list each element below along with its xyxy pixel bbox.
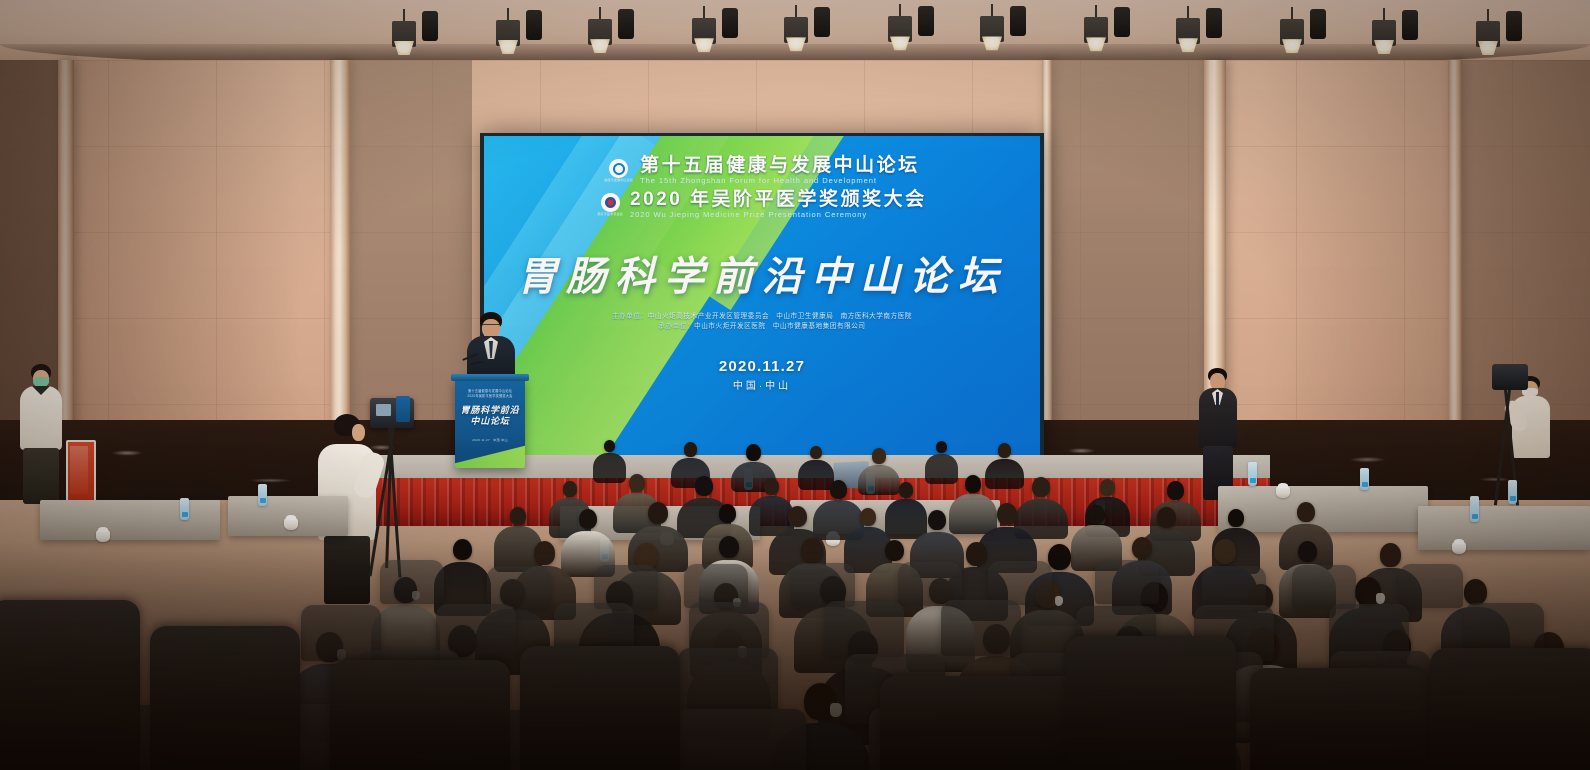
chair <box>674 709 806 770</box>
audience-head <box>788 506 807 527</box>
co-organizers-value: 中山市火炬开发区医院 中山市健康基地集团有限公司 <box>694 323 865 330</box>
chair <box>941 600 1021 656</box>
foreground-chair <box>520 646 680 770</box>
audience-head <box>1032 477 1050 497</box>
audience-head <box>936 441 947 453</box>
staff-left <box>18 364 64 504</box>
audience-member <box>593 453 626 483</box>
video-camera-left-screen <box>376 404 391 416</box>
audience-head <box>860 508 876 526</box>
teacup <box>284 518 298 530</box>
foreground-chair <box>1430 648 1590 770</box>
audience-head <box>648 502 668 524</box>
audience-head <box>510 507 526 525</box>
screen-header-cn-1: 第十五届健康与发展中山论坛 <box>640 156 920 176</box>
audience-head <box>579 509 597 529</box>
audience-head <box>604 440 615 452</box>
audience-head <box>746 444 761 461</box>
chair <box>1202 566 1266 610</box>
foreground-chair <box>880 676 1070 770</box>
screen-organizers: 主办单位：中山火炬高技术产业开发区管理委员会 中山市卫生健康局 南方医科大学南方… <box>484 312 1040 332</box>
staff-right <box>1196 368 1240 500</box>
audience-head <box>534 541 555 565</box>
video-camera-left-lens <box>362 404 374 416</box>
audience-head <box>966 542 987 566</box>
forum-logo-icon <box>609 159 628 178</box>
stage-light-housing <box>1310 9 1326 39</box>
audience-head <box>801 538 823 563</box>
audience-head <box>563 481 577 497</box>
fire-extinguisher-glass <box>70 446 88 494</box>
audience-head <box>1100 479 1115 496</box>
audience-head <box>684 442 697 457</box>
speaker-glasses <box>482 324 500 328</box>
audience-member <box>858 465 900 495</box>
audience-head <box>1167 481 1184 500</box>
organizers-label: 主办单位： <box>612 313 648 320</box>
screen-header: 健康与发展中山论坛 第十五届健康与发展中山论坛 The 15th Zhongsh… <box>484 156 1040 220</box>
audience-member <box>798 460 834 490</box>
foreground-chair <box>330 660 510 770</box>
staff-left-blouse <box>20 386 62 450</box>
audience-head <box>997 503 1017 525</box>
foundation-logo-caption: 吴阶平医学基金会 <box>597 213 623 216</box>
podium-green-swoosh <box>455 440 525 468</box>
audience-head <box>764 478 779 495</box>
foreground-chair <box>1250 668 1430 770</box>
audience-member <box>985 459 1024 489</box>
video-camera-left-accent <box>396 396 410 422</box>
podium-top-edge <box>451 374 529 381</box>
audience-head <box>1228 509 1244 527</box>
stage-light-housing <box>618 9 634 39</box>
foundation-logo: 吴阶平医学基金会 <box>597 193 623 216</box>
podium: 第十五届健康与发展中山论坛 2020年吴阶平医学奖颁奖大会 胃肠科学前沿 中山论… <box>455 378 525 468</box>
audience-head <box>1157 507 1176 528</box>
chair <box>988 561 1052 605</box>
foreground-chair <box>1066 636 1236 770</box>
foreground-chair <box>150 626 300 770</box>
conference-hall-scene: 健康与发展中山论坛 第十五届健康与发展中山论坛 The 15th Zhongsh… <box>0 0 1590 770</box>
audience-head <box>1088 505 1105 524</box>
podium-title-line-1: 胃肠科学前沿 <box>455 405 525 416</box>
audience-member <box>885 499 927 539</box>
audience-head <box>1048 544 1071 570</box>
stage-light-housing <box>1114 7 1130 37</box>
audience-head <box>1380 543 1401 567</box>
foreground-chair <box>0 600 140 770</box>
screen-date-block: 2020.11.27 中国·中山 <box>484 358 1040 392</box>
screen-header-cn-2: 2020 年吴阶平医学奖颁奖大会 <box>630 190 927 210</box>
chair <box>1292 565 1356 609</box>
audience-head <box>928 510 946 530</box>
audience-head <box>810 446 822 459</box>
cam-op-left-trousers <box>324 536 370 604</box>
water-bottle <box>1360 468 1369 490</box>
front-table-5 <box>40 500 220 540</box>
forum-logo-caption: 健康与发展中山论坛 <box>604 179 633 182</box>
podium-header-line-2: 2020年吴阶平医学奖颁奖大会 <box>461 394 519 399</box>
water-bottle <box>1470 496 1479 522</box>
water-bottle <box>1248 462 1257 486</box>
chair <box>824 601 904 657</box>
stage-light-housing <box>1206 8 1222 38</box>
audience-head <box>719 504 736 523</box>
stage-light-housing <box>1010 6 1026 36</box>
stage-light-housing <box>918 6 934 36</box>
audience-head <box>899 482 913 498</box>
teacup <box>1276 486 1290 498</box>
foundation-logo-icon <box>601 193 620 212</box>
podium-title: 胃肠科学前沿 中山论坛 <box>455 405 525 428</box>
podium-title-line-2: 中山论坛 <box>455 416 525 427</box>
chair <box>1095 560 1159 604</box>
water-bottle <box>180 498 189 520</box>
teacup <box>96 530 110 542</box>
audience-member <box>949 494 997 534</box>
audience-head <box>998 443 1011 458</box>
audience-head <box>885 540 904 561</box>
chair <box>1399 564 1463 608</box>
audience-head <box>965 475 981 493</box>
video-camera-right <box>1492 364 1528 390</box>
audience-head <box>1297 502 1315 522</box>
staff-right-tie <box>1216 392 1219 405</box>
screen-main-title: 胃肠科学前沿中山论坛 <box>484 244 1040 302</box>
audience-head <box>1464 579 1487 605</box>
audience-head <box>695 476 713 496</box>
camera-operator-right <box>1512 376 1552 496</box>
audience-head <box>1132 537 1152 559</box>
audience-head <box>872 448 886 464</box>
screen-header-row-2: 吴阶平医学基金会 2020 年吴阶平医学奖颁奖大会 2020 Wu Jiepin… <box>484 190 1040 219</box>
audience-face-mask <box>830 703 841 716</box>
podium-subtitle: 2020.11.27 中国·中山 <box>455 438 525 442</box>
co-organizers-label: 承办单位： <box>658 323 694 330</box>
chair <box>678 648 778 718</box>
audience-head <box>830 480 847 499</box>
stage-light-housing <box>814 7 830 37</box>
audience-member <box>925 454 958 484</box>
screen-header-row-1: 健康与发展中山论坛 第十五届健康与发展中山论坛 The 15th Zhongsh… <box>484 156 1040 185</box>
stage-light-housing <box>722 8 738 38</box>
forum-logo: 健康与发展中山论坛 <box>604 159 633 182</box>
led-screen: 健康与发展中山论坛 第十五届健康与发展中山论坛 The 15th Zhongsh… <box>484 136 1040 458</box>
audience-head <box>629 474 645 492</box>
screen-location: 中国·中山 <box>484 377 1040 392</box>
audience-head <box>1214 539 1236 564</box>
audience-head <box>1298 541 1317 562</box>
podium-header: 第十五届健康与发展中山论坛 2020年吴阶平医学奖颁奖大会 <box>461 389 519 400</box>
co-organizers-line: 承办单位：中山市火炬开发区医院 中山市健康基地集团有限公司 <box>484 322 1040 332</box>
screen-header-en-1: The 15th Zhongshan Forum for Health and … <box>640 177 920 185</box>
front-table-4 <box>1418 506 1590 550</box>
cam-op-left-face <box>352 424 365 441</box>
audience-face-mask <box>1376 593 1385 603</box>
audience-head <box>453 539 472 560</box>
organizers-line: 主办单位：中山火炬高技术产业开发区管理委员会 中山市卫生健康局 南方医科大学南方… <box>484 312 1040 322</box>
audience-face-mask <box>1055 596 1064 606</box>
water-bottle <box>258 484 267 506</box>
audience-head <box>719 536 739 558</box>
teacup <box>1452 542 1466 554</box>
organizers-value: 中山火炬高技术产业开发区管理委员会 中山市卫生健康局 南方医科大学南方医院 <box>648 313 912 320</box>
screen-header-en-2: 2020 Wu Jieping Medicine Prize Presentat… <box>630 211 927 219</box>
water-bottle <box>1508 480 1517 504</box>
chair <box>380 560 444 604</box>
front-table-3 <box>1218 486 1428 532</box>
staff-left-skirt <box>23 448 59 504</box>
screen-date: 2020.11.27 <box>484 358 1040 375</box>
